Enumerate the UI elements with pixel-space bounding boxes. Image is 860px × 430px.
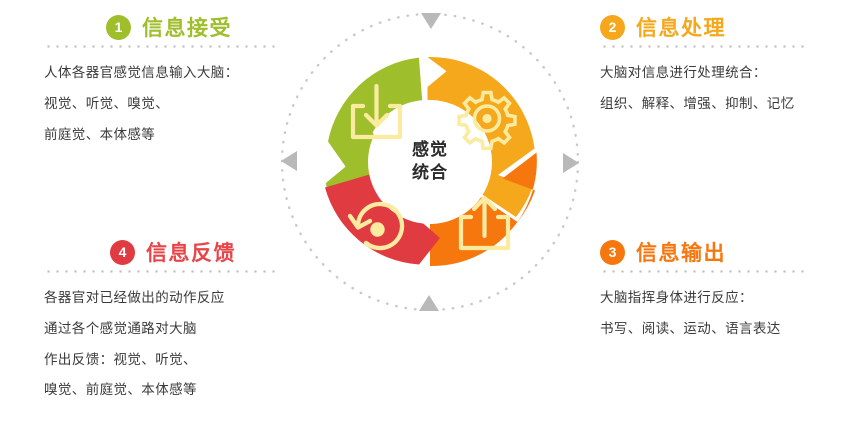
step-4-divider (44, 270, 279, 273)
step-3-title: 信息输出 (636, 237, 726, 267)
step-1-body: 人体各器官感觉信息输入大脑： 视觉、听觉、嗅觉、 前庭觉、本体感等 (44, 58, 276, 150)
step-4-line-4: 嗅觉、前庭觉、本体感等 (44, 375, 279, 406)
step-block-2: 2 信息处理 大脑对信息进行处理统合： 组织、解释、增强、抑制、记忆 (600, 12, 850, 120)
step-2-header: 2 信息处理 (600, 12, 850, 42)
step-2-badge: 2 (600, 15, 625, 40)
step-1-header: 1 信息接受 (44, 12, 276, 42)
step-4-line-3: 作出反馈：视觉、听觉、 (44, 345, 279, 376)
step-2-title: 信息处理 (636, 12, 726, 42)
step-2-line-1: 大脑对信息进行处理统合： (600, 58, 850, 89)
sensory-integration-cycle-diagram: 感觉 统合 (270, 2, 590, 322)
step-3-header: 3 信息输出 (600, 237, 850, 267)
step-2-divider (600, 45, 806, 48)
step-block-3: 3 信息输出 大脑指挥身体进行反应： 书写、阅读、运动、语言表达 (600, 237, 850, 345)
step-3-badge: 3 (600, 240, 625, 265)
step-4-title: 信息反馈 (146, 237, 236, 267)
step-1-divider (44, 45, 276, 48)
step-3-line-1: 大脑指挥身体进行反应： (600, 283, 850, 314)
step-1-line-1: 人体各器官感觉信息输入大脑： (44, 58, 276, 89)
step-1-line-2: 视觉、听觉、嗅觉、 (44, 89, 276, 120)
step-4-line-2: 通过各个感觉通路对大脑 (44, 314, 279, 345)
step-2-body: 大脑对信息进行处理统合： 组织、解释、增强、抑制、记忆 (600, 58, 850, 120)
step-3-divider (600, 270, 806, 273)
step-2-line-2: 组织、解释、增强、抑制、记忆 (600, 89, 850, 120)
cycle-segments-precise (270, 2, 590, 322)
step-3-line-2: 书写、阅读、运动、语言表达 (600, 314, 850, 345)
step-1-badge: 1 (106, 15, 131, 40)
step-block-4: 4 信息反馈 各器官对已经做出的动作反应 通过各个感觉通路对大脑 作出反馈：视觉… (44, 237, 279, 406)
step-3-body: 大脑指挥身体进行反应： 书写、阅读、运动、语言表达 (600, 283, 850, 345)
step-4-body: 各器官对已经做出的动作反应 通过各个感觉通路对大脑 作出反馈：视觉、听觉、 嗅觉… (44, 283, 279, 406)
infographic-canvas: 感觉 统合 1 信息接受 人体各器官感觉信息输入大脑： 视觉、听觉、嗅觉、 前庭… (0, 0, 860, 430)
step-4-header: 4 信息反馈 (44, 237, 279, 267)
step-4-badge: 4 (110, 240, 135, 265)
step-1-title: 信息接受 (142, 12, 232, 42)
step-block-1: 1 信息接受 人体各器官感觉信息输入大脑： 视觉、听觉、嗅觉、 前庭觉、本体感等 (44, 12, 276, 150)
step-4-line-1: 各器官对已经做出的动作反应 (44, 283, 279, 314)
step-1-line-3: 前庭觉、本体感等 (44, 120, 276, 151)
